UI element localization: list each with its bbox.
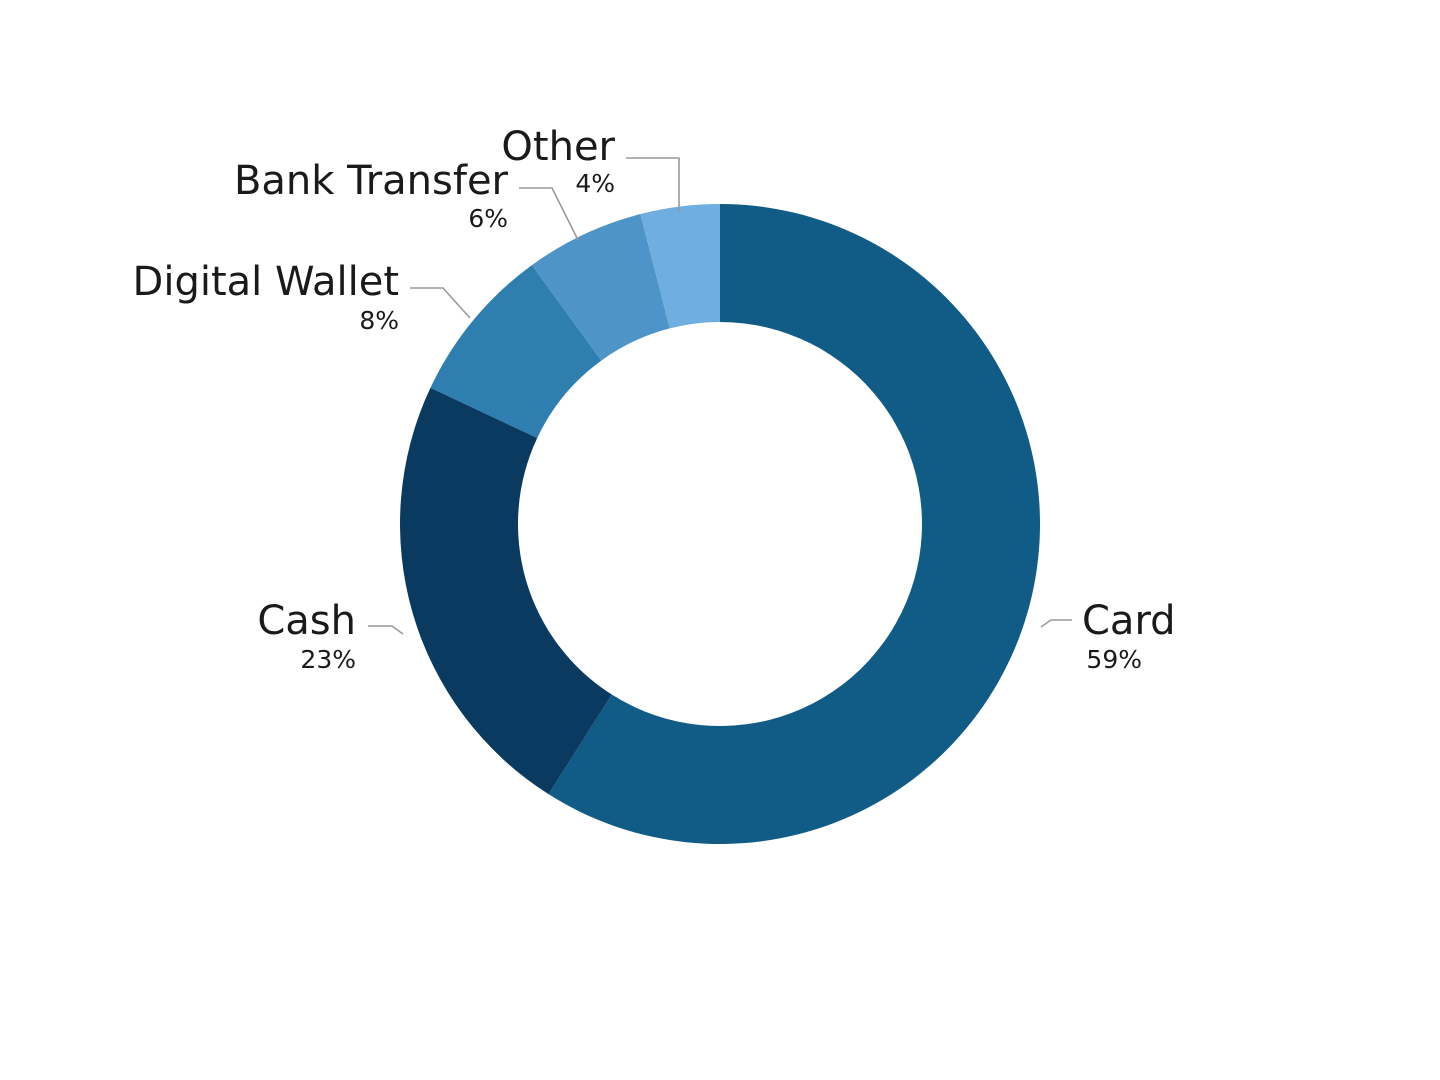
leader-line-bank-transfer (519, 188, 578, 240)
leader-line-other (626, 158, 679, 213)
slice-label-name-other: Other (501, 124, 615, 170)
leader-line-card (1041, 620, 1072, 627)
donut-slice-cash[interactable] (400, 388, 612, 794)
donut-chart: Card59%Cash23%Digital Wallet8%Bank Trans… (0, 0, 1440, 1080)
slice-label-value-digital-wallet: 8% (359, 306, 399, 335)
slice-label-name-cash: Cash (257, 598, 356, 644)
donut-slices-group (400, 204, 1040, 844)
slice-label-value-other: 4% (575, 169, 615, 198)
slice-label-name-digital-wallet: Digital Wallet (133, 259, 399, 305)
slice-label-name-card: Card (1082, 598, 1176, 644)
slice-label-name-bank-transfer: Bank Transfer (234, 158, 509, 204)
slice-label-value-bank-transfer: 6% (468, 204, 508, 233)
chart-canvas: Card59%Cash23%Digital Wallet8%Bank Trans… (0, 0, 1440, 1080)
slice-label-value-cash: 23% (300, 645, 356, 674)
slice-label-value-card: 59% (1086, 645, 1142, 674)
leader-line-cash (368, 626, 403, 634)
leader-line-digital-wallet (410, 288, 470, 318)
